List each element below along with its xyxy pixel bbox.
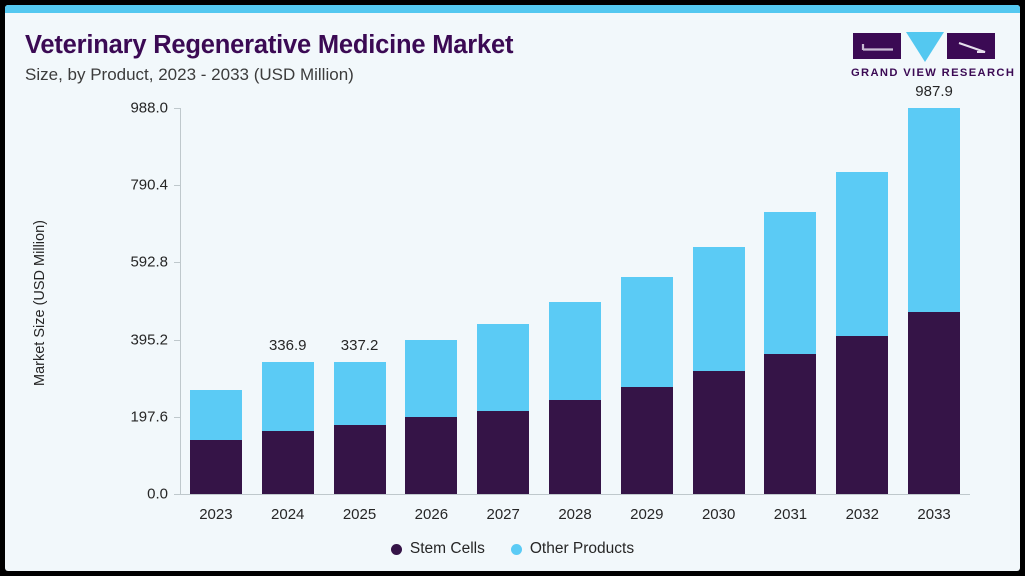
bar-segment-other-products[interactable] [405,340,457,417]
bar-segment-other-products[interactable] [764,212,816,354]
bar-segment-other-products[interactable] [262,362,314,431]
bar-value-label: 987.9 [915,83,953,100]
plot-area: Market Size (USD Million) 0.0197.6395.25… [5,5,1020,571]
bar-segment-stem-cells[interactable] [190,440,242,494]
bar-segment-other-products[interactable] [477,324,529,411]
y-axis-tick-label: 988.0 [98,100,168,117]
legend-swatch-icon [511,544,522,555]
y-axis-tick-label: 790.4 [98,177,168,194]
x-axis-tick-label: 2031 [774,506,807,523]
legend-label: Stem Cells [410,540,485,558]
bar-segment-stem-cells[interactable] [764,354,816,494]
legend-label: Other Products [530,540,634,558]
x-axis-tick-label: 2032 [846,506,879,523]
legend-swatch-icon [391,544,402,555]
bar-value-label: 337.2 [341,337,379,354]
bar-segment-stem-cells[interactable] [908,312,960,494]
x-axis-tick-label: 2023 [199,506,232,523]
bar-value-label: 336.9 [269,337,307,354]
x-axis-tick-label: 2029 [630,506,663,523]
bar-segment-stem-cells[interactable] [405,417,457,494]
bar-segment-other-products[interactable] [549,302,601,400]
bar-segment-other-products[interactable] [693,247,745,371]
legend-item-stem-cells[interactable]: Stem Cells [391,540,485,558]
chart-window: Veterinary Regenerative Medicine Market … [0,0,1025,576]
bar-segment-stem-cells[interactable] [693,371,745,494]
bar-segment-stem-cells[interactable] [549,400,601,494]
x-axis-tick-label: 2027 [486,506,519,523]
bar-segment-other-products[interactable] [836,172,888,336]
chart-legend: Stem CellsOther Products [5,540,1020,558]
y-axis-tick-label: 592.8 [98,254,168,271]
bar-segment-stem-cells[interactable] [262,431,314,494]
x-axis-tick-label: 2024 [271,506,304,523]
y-axis-tick-label: 197.6 [98,408,168,425]
bar-segment-other-products[interactable] [334,362,386,425]
y-axis-title: Market Size (USD Million) [32,173,48,433]
x-axis-tick-label: 2028 [558,506,591,523]
x-axis-tick-label: 2030 [702,506,735,523]
y-axis-tick-label: 0.0 [98,486,168,503]
x-axis-tick-label: 2025 [343,506,376,523]
x-axis-line [180,494,970,495]
chart-canvas: Veterinary Regenerative Medicine Market … [5,5,1020,571]
bar-segment-stem-cells[interactable] [334,425,386,494]
bar-segment-stem-cells[interactable] [836,336,888,494]
y-axis-tick-label: 395.2 [98,331,168,348]
legend-item-other-products[interactable]: Other Products [511,540,634,558]
bar-segment-stem-cells[interactable] [477,411,529,494]
y-axis-line [180,108,181,494]
bar-segment-other-products[interactable] [621,277,673,387]
bar-segment-stem-cells[interactable] [621,387,673,494]
x-axis-tick-label: 2026 [415,506,448,523]
bar-segment-other-products[interactable] [908,108,960,312]
bar-segment-other-products[interactable] [190,390,242,440]
x-axis-tick-label: 2033 [917,506,950,523]
